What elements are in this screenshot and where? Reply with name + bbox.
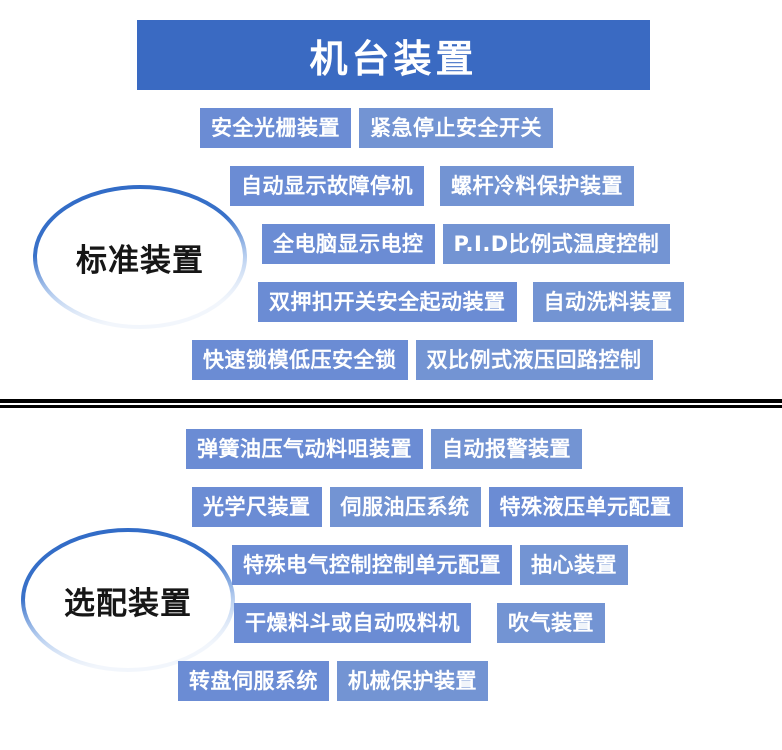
tag-item[interactable]: 紧急停止安全开关 — [359, 108, 553, 148]
badge-standard-label: 标准装置 — [76, 235, 204, 280]
tag-item[interactable]: 吹气装置 — [497, 603, 605, 643]
tag-item[interactable]: 光学尺装置 — [192, 487, 322, 527]
tag-item[interactable]: 自动报警装置 — [431, 429, 582, 469]
tag-row: 快速锁模低压安全锁 双比例式液压回路控制 — [192, 340, 653, 380]
badge-optional: 选配装置 — [18, 525, 238, 675]
section-divider — [0, 399, 782, 408]
tag-row: 安全光栅装置 紧急停止安全开关 — [200, 108, 553, 148]
tag-item[interactable]: 自动显示故障停机 — [230, 166, 424, 206]
infographic-root: 机台装置 标准装置 安全光栅装置 紧急 — [0, 0, 782, 750]
badge-standard: 标准装置 — [30, 182, 250, 332]
tag-item[interactable]: 特殊液压单元配置 — [489, 487, 683, 527]
tag-item[interactable]: 安全光栅装置 — [200, 108, 351, 148]
tag-row: 弹簧油压气动料咀装置 自动报警装置 — [186, 429, 582, 469]
page-title: 机台装置 — [137, 20, 650, 90]
tag-item[interactable]: 快速锁模低压安全锁 — [192, 340, 408, 380]
tag-item[interactable]: 干燥料斗或自动吸料机 — [234, 603, 471, 643]
tag-row: 光学尺装置 伺服油压系统 特殊液压单元配置 — [192, 487, 683, 527]
tag-row: 自动显示故障停机 螺杆冷料保护装置 — [230, 166, 634, 206]
tag-item[interactable]: 机械保护装置 — [337, 661, 488, 701]
section-optional: 选配装置 弹簧油压气动料咀装置 自动报警装置 光学尺装置 伺服油压系统 特殊液压… — [0, 417, 782, 750]
tag-item[interactable]: 弹簧油压气动料咀装置 — [186, 429, 423, 469]
divider-line-top — [0, 399, 782, 403]
tag-item[interactable]: 双押扣开关安全起动装置 — [258, 282, 517, 322]
tag-item[interactable]: 全电脑显示电控 — [262, 224, 435, 264]
tag-item[interactable]: 伺服油压系统 — [330, 487, 481, 527]
tag-item[interactable]: 双比例式液压回路控制 — [416, 340, 653, 380]
tag-item[interactable]: 自动洗料装置 — [533, 282, 684, 322]
tag-item[interactable]: 特殊电气控制控制单元配置 — [232, 545, 512, 585]
page-title-text: 机台装置 — [309, 28, 477, 83]
tag-item[interactable]: 转盘伺服系统 — [178, 661, 329, 701]
tag-row: 转盘伺服系统 机械保护装置 — [178, 661, 488, 701]
tag-item[interactable]: P.I.D比例式温度控制 — [443, 224, 671, 264]
section-standard: 标准装置 安全光栅装置 紧急停止安全开关 自动显示故障停机 螺杆冷料保护装置 全… — [0, 96, 782, 396]
tag-row: 特殊电气控制控制单元配置 抽心装置 — [232, 545, 628, 585]
badge-optional-label: 选配装置 — [64, 578, 192, 623]
divider-line-bottom — [0, 405, 782, 408]
tag-row: 干燥料斗或自动吸料机 吹气装置 — [234, 603, 605, 643]
tag-item[interactable]: 抽心装置 — [520, 545, 628, 585]
tag-item[interactable]: 螺杆冷料保护装置 — [440, 166, 634, 206]
tag-row: 双押扣开关安全起动装置 自动洗料装置 — [258, 282, 684, 322]
tag-row: 全电脑显示电控 P.I.D比例式温度控制 — [262, 224, 670, 264]
